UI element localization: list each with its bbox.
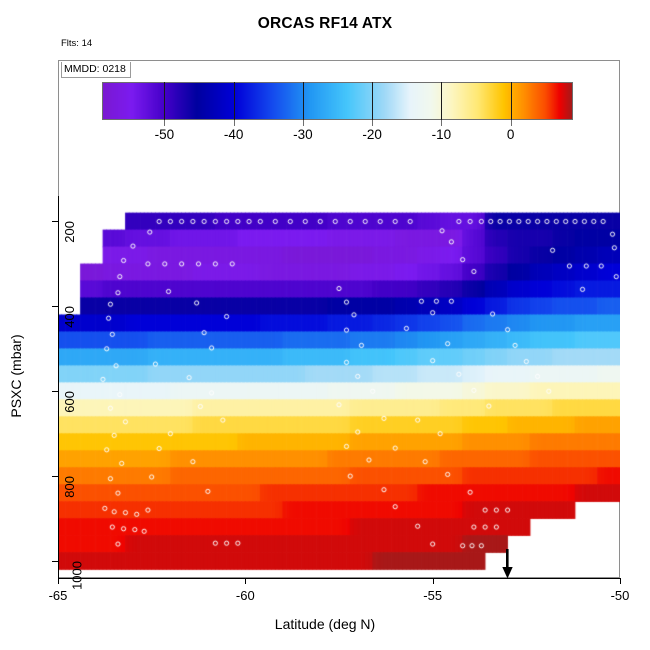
x-axis-tick-label: -60 — [236, 588, 255, 603]
y-axis-tick — [52, 306, 58, 307]
x-axis-tick — [58, 578, 59, 584]
x-axis-tick-label: -50 — [611, 588, 630, 603]
latitude-marker-arrow — [502, 549, 513, 579]
x-axis-tick-label: -65 — [49, 588, 68, 603]
y-axis-label: PSXC (mbar) — [8, 276, 24, 476]
flights-annotation: Flts: 14 — [61, 38, 92, 49]
x-axis-tick — [620, 578, 621, 584]
y-axis-tick-label: 1000 — [69, 561, 84, 590]
plot-root: ORCAS RF14 ATX Flts: 14 MMDD: 0218 -50-4… — [0, 0, 650, 650]
x-axis-line — [58, 578, 620, 579]
x-axis-tick — [433, 578, 434, 584]
y-axis-tick-label: 600 — [62, 391, 77, 413]
y-axis-tick-label: 200 — [62, 221, 77, 243]
x-axis-tick-label: -55 — [423, 588, 442, 603]
y-axis-tick-label: 400 — [62, 306, 77, 328]
y-axis-tick — [52, 476, 58, 477]
y-axis-tick — [52, 561, 58, 562]
y-axis-tick — [52, 221, 58, 222]
x-axis-label: Latitude (deg N) — [0, 616, 650, 632]
page-title: ORCAS RF14 ATX — [0, 15, 650, 33]
x-axis-tick — [245, 578, 246, 584]
y-axis-tick — [52, 391, 58, 392]
heatmap-canvas — [58, 60, 620, 578]
y-axis-tick-label: 800 — [62, 476, 77, 498]
y-axis-line — [58, 196, 59, 578]
